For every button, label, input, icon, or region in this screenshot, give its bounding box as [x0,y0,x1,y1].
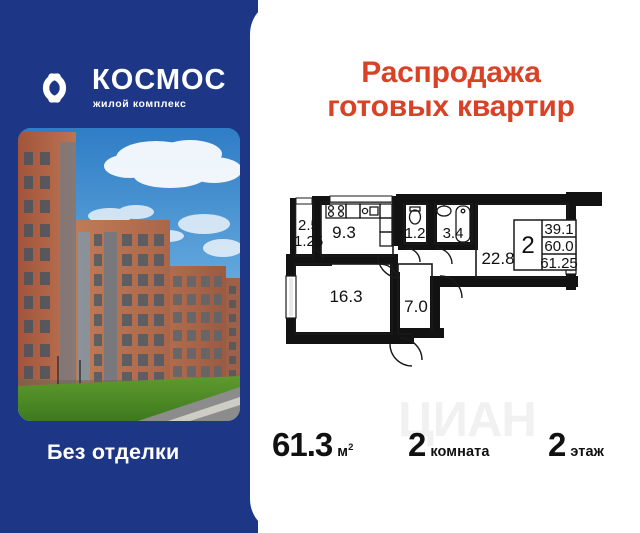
usable-area-value: 60.0 [544,238,573,255]
living-area-value: 39.1 [544,221,573,238]
brand-name: КОСМОС [92,66,226,96]
hallway-area: 7.0 [404,297,428,316]
page-title-line2: готовых квартир [268,90,634,124]
balcony-area-bottom: 1.25 [294,233,323,250]
total-area-value: 61.25 [540,255,578,272]
balcony-area-top: 2.5 [298,217,319,234]
stat-area-unit: м2 [337,442,353,460]
stat-rooms: 2 комната [408,428,490,461]
wc-area: 1.2 [405,225,426,242]
stat-rooms-value: 2 [408,428,425,461]
page-title-line1: Распродажа [361,56,540,89]
living-room-area: 22.8 [481,249,514,268]
finish-label: Без отделки [47,440,247,465]
stat-rooms-unit: комната [430,444,489,460]
floor-plan: 2.5 1.25 9.3 1.2 3.4 22.8 16.3 7.0 2 39.… [270,180,622,378]
bedroom-area: 16.3 [329,287,362,306]
listing-card: КОСМОС жилой комплекс [0,0,640,533]
plan-info-box: 2 39.1 60.0 61.25 [514,220,578,272]
page-title: Распродажа готовых квартир [268,56,634,124]
stat-area-value: 61.3 [272,428,332,461]
summary-stats: 61.3 м2 2 комната 2 этаж [268,428,640,474]
building-photo [18,128,240,421]
rooms-count: 2 [521,232,534,259]
stat-floor-unit: этаж [570,444,604,460]
toilet-icon [410,207,421,224]
stat-floor-value: 2 [548,428,565,461]
stat-area: 61.3 м2 [272,428,353,461]
brand-tagline: жилой комплекс [93,99,226,111]
infinity-icon [26,68,83,108]
brand-logo: КОСМОС жилой комплекс [26,60,241,116]
kitchen-area: 9.3 [332,223,356,242]
bathroom-area: 3.4 [443,225,464,242]
stat-floor: 2 этаж [548,428,604,461]
